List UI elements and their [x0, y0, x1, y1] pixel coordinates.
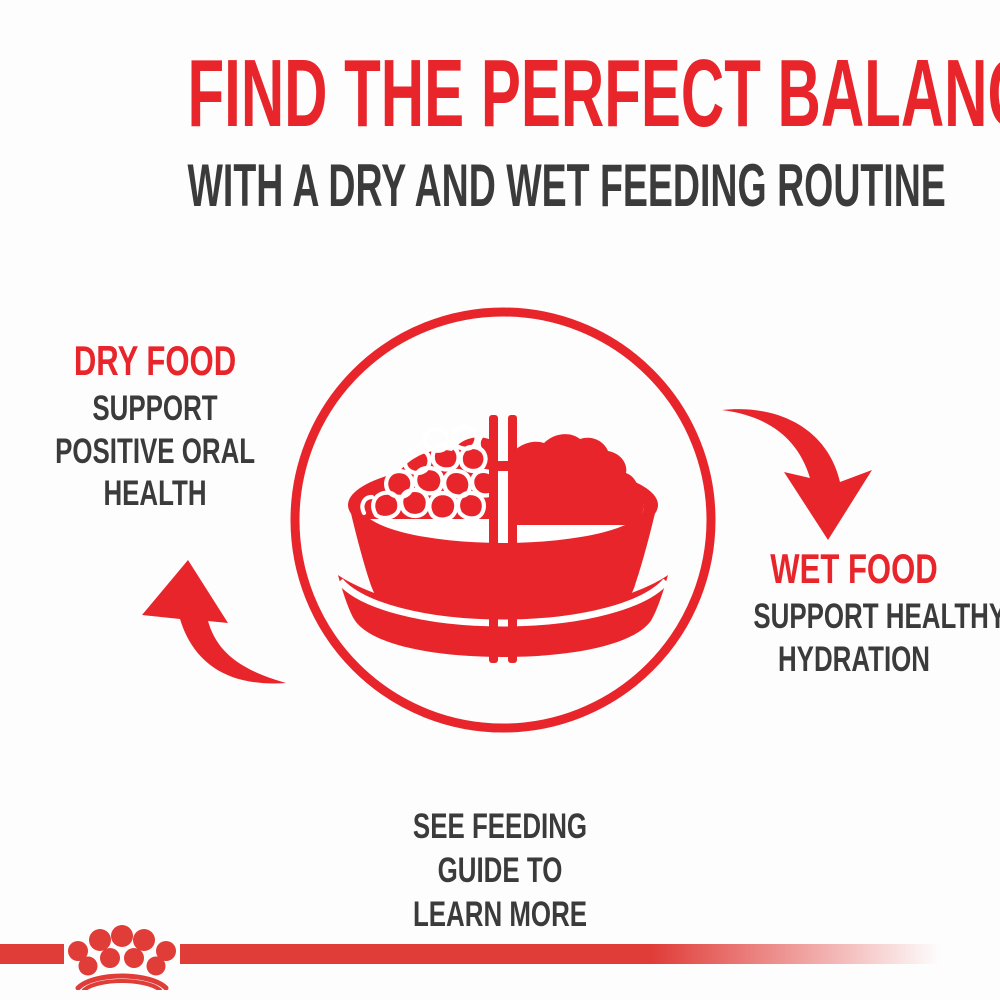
wet-food-body-line-1: SUPPORT HEALTHY	[753, 596, 954, 639]
dry-food-body-line-3: HEALTH	[55, 473, 255, 516]
wet-food-arrow	[700, 390, 900, 555]
royal-canin-logo	[62, 918, 182, 990]
dry-food-callout: DRY FOOD SUPPORT POSITIVE ORAL HEALTH	[20, 340, 290, 516]
dry-food-arrow	[120, 545, 320, 725]
dry-food-title: DRY FOOD	[55, 340, 255, 382]
wet-food-body-line-2: HYDRATION	[753, 639, 954, 682]
dry-kibble-mound	[354, 427, 501, 520]
food-bowl-emblem	[288, 305, 718, 735]
footer-bar	[0, 908, 1000, 1000]
header-block: FIND THE PERFECT BALANCE WITH A DRY AND …	[0, 48, 1000, 216]
wet-food-callout: WET FOOD SUPPORT HEALTHY HYDRATION	[718, 548, 990, 681]
wet-food-title: WET FOOD	[753, 548, 954, 590]
crown-icon	[62, 918, 182, 990]
wet-food-body: SUPPORT HEALTHY HYDRATION	[753, 596, 954, 681]
wet-food-mound	[510, 434, 649, 525]
dry-food-body: SUPPORT POSITIVE ORAL HEALTH	[55, 388, 255, 516]
dry-food-body-line-2: POSITIVE ORAL	[55, 431, 255, 474]
curved-arrow-up-left-icon	[120, 545, 320, 725]
caption-line-1: SEE FEEDING	[130, 805, 870, 849]
caption-line-2: GUIDE TO	[130, 849, 870, 893]
page-title: FIND THE PERFECT BALANCE	[188, 48, 813, 140]
dry-food-body-line-1: SUPPORT	[55, 388, 255, 431]
footer-rule-right	[180, 944, 940, 964]
footer-rule-left	[0, 944, 64, 964]
page-subtitle: WITH A DRY AND WET FEEDING ROUTINE	[188, 156, 813, 216]
split-bowl-icon	[288, 305, 718, 735]
wet-food-mass	[510, 434, 649, 525]
infographic-poster: FIND THE PERFECT BALANCE WITH A DRY AND …	[0, 0, 1000, 1000]
curved-arrow-down-right-icon	[700, 390, 900, 555]
